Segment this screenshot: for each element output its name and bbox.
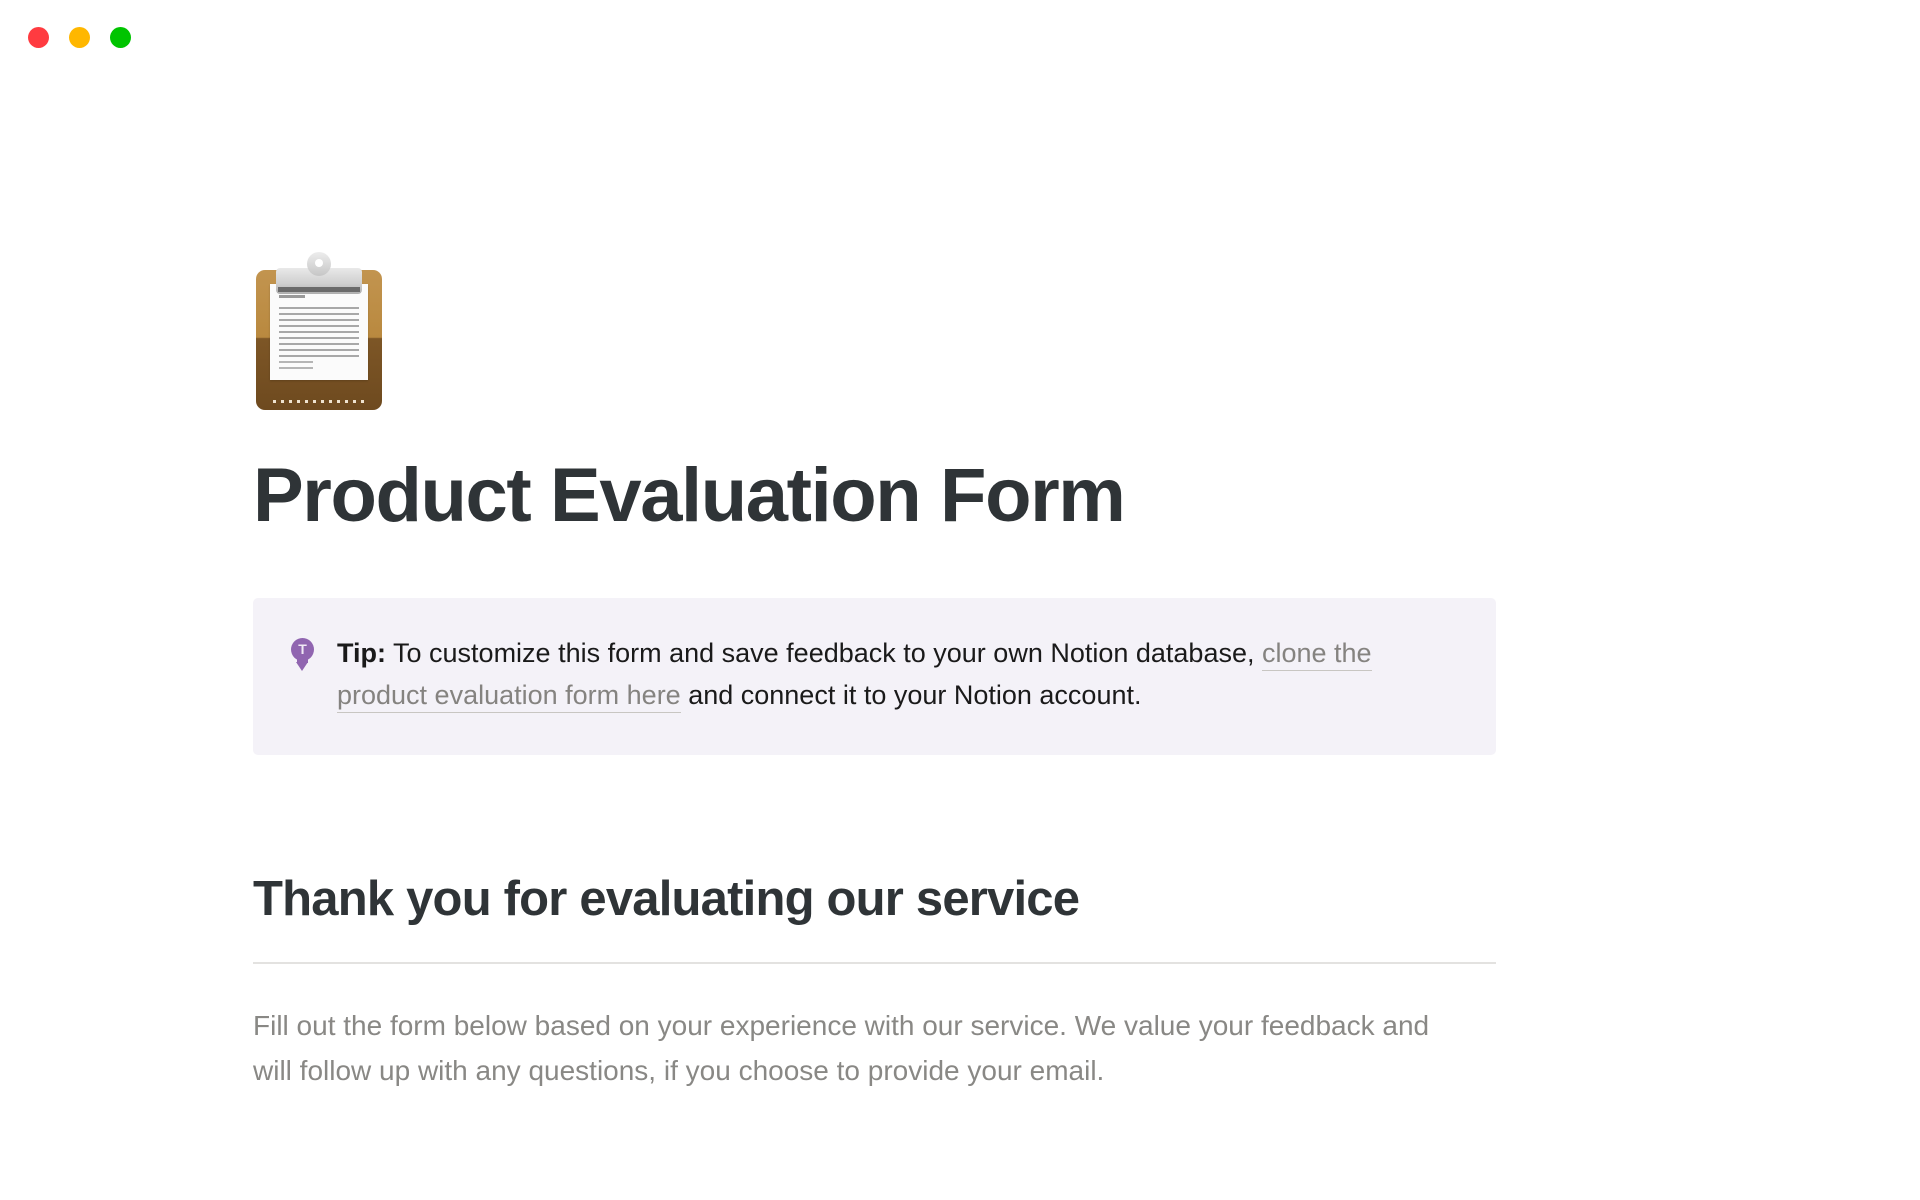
page-content: Product Evaluation Form T Tip: To custom…	[253, 0, 1496, 1094]
clipboard-paper-lines	[279, 307, 359, 359]
clipboard-icon[interactable]	[253, 250, 385, 410]
maximize-window-button[interactable]	[110, 27, 131, 48]
clipboard-bottom-dots	[273, 400, 365, 403]
clipboard-paper-signature	[279, 361, 313, 371]
tip-callout: T Tip: To customize this form and save f…	[253, 598, 1496, 755]
minimize-window-button[interactable]	[69, 27, 90, 48]
section-body-text: Fill out the form below based on your ex…	[253, 1004, 1463, 1094]
tip-text-before-link: To customize this form and save feedback…	[386, 638, 1262, 668]
lightbulb-letter: T	[289, 641, 316, 657]
tip-text-after-link: and connect it to your Notion account.	[681, 680, 1142, 710]
tip-label: Tip:	[337, 638, 386, 668]
lightbulb-base	[296, 662, 308, 671]
app-window: Product Evaluation Form T Tip: To custom…	[0, 0, 1920, 1200]
section-divider	[253, 962, 1496, 964]
clipboard-clip-ring	[307, 252, 331, 276]
tip-callout-text: Tip: To customize this form and save fee…	[337, 632, 1456, 717]
clipboard-paper	[270, 284, 368, 380]
tip-lightbulb-icon: T	[289, 638, 315, 672]
close-window-button[interactable]	[28, 27, 49, 48]
page-title: Product Evaluation Form	[253, 456, 1496, 536]
section-heading: Thank you for evaluating our service	[253, 871, 1496, 927]
